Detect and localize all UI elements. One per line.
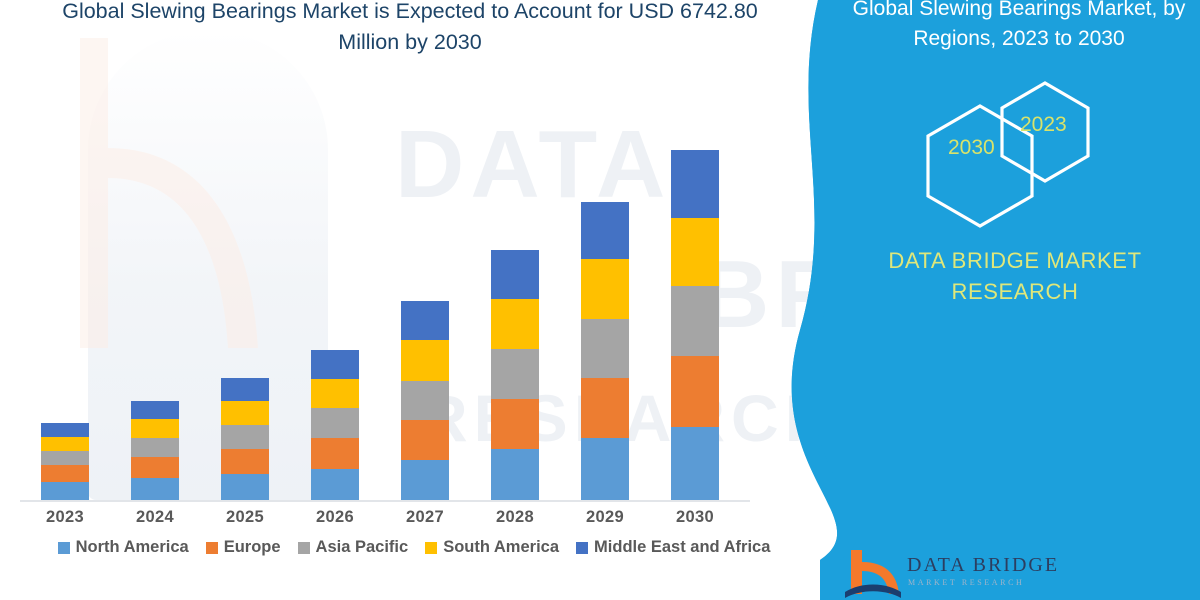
bar-segment[interactable] bbox=[671, 150, 719, 218]
legend-label: Middle East and Africa bbox=[594, 538, 770, 557]
brand-line-2: RESEARCH bbox=[830, 276, 1200, 307]
stacked-bar-2029[interactable] bbox=[581, 202, 629, 500]
bar-segment[interactable] bbox=[401, 460, 449, 500]
legend-swatch-icon bbox=[576, 542, 588, 554]
stacked-bar-2025[interactable] bbox=[221, 378, 269, 500]
stacked-bar-2024[interactable] bbox=[131, 401, 179, 500]
legend-item[interactable]: Middle East and Africa bbox=[576, 538, 770, 557]
bar-segment[interactable] bbox=[311, 438, 359, 469]
bar-segment[interactable] bbox=[401, 301, 449, 340]
stacked-bar-2027[interactable] bbox=[401, 301, 449, 500]
brand-panel: BR Global Slewing Bearings Market, by Re… bbox=[830, 0, 1200, 600]
stacked-bar-2026[interactable] bbox=[311, 350, 359, 500]
bar-segment[interactable] bbox=[131, 478, 179, 500]
bar-segment[interactable] bbox=[671, 356, 719, 427]
bar-segment[interactable] bbox=[491, 449, 539, 500]
bar-segment[interactable] bbox=[671, 218, 719, 286]
bar-segment[interactable] bbox=[401, 420, 449, 460]
hexagon-2023-label: 2023 bbox=[1020, 113, 1067, 137]
bar-segment[interactable] bbox=[581, 202, 629, 259]
bar-slot bbox=[290, 60, 380, 500]
brand-panel-title: Global Slewing Bearings Market, by Regio… bbox=[838, 0, 1200, 54]
bar-segment[interactable] bbox=[311, 408, 359, 438]
bar-segment[interactable] bbox=[41, 482, 89, 500]
legend-item[interactable]: Asia Pacific bbox=[298, 538, 409, 557]
bar-segment[interactable] bbox=[311, 379, 359, 408]
bar-slot bbox=[200, 60, 290, 500]
bar-slot bbox=[110, 60, 200, 500]
bar-segment[interactable] bbox=[671, 427, 719, 500]
legend-item[interactable]: South America bbox=[425, 538, 559, 557]
bar-segment[interactable] bbox=[221, 378, 269, 401]
bar-segment[interactable] bbox=[581, 259, 629, 319]
bar-segment[interactable] bbox=[581, 438, 629, 500]
stacked-bar-2028[interactable] bbox=[491, 250, 539, 500]
chart-panel: DATA BRIDGE RESEARCH Global Slewing Bear… bbox=[0, 0, 830, 600]
x-axis-label-2027: 2027 bbox=[380, 508, 470, 527]
bar-segment[interactable] bbox=[221, 425, 269, 449]
logo-tagline: MARKET RESEARCH bbox=[908, 578, 1024, 587]
bar-segment[interactable] bbox=[221, 474, 269, 500]
bar-segment[interactable] bbox=[311, 469, 359, 500]
legend-item[interactable]: North America bbox=[58, 538, 189, 557]
bar-segment[interactable] bbox=[41, 437, 89, 451]
bar-slot bbox=[650, 60, 740, 500]
bar-segment[interactable] bbox=[41, 451, 89, 465]
bar-segment[interactable] bbox=[131, 401, 179, 419]
bar-segment[interactable] bbox=[401, 381, 449, 420]
bar-group bbox=[20, 60, 760, 500]
legend-label: Asia Pacific bbox=[316, 538, 409, 557]
x-axis-label-2023: 2023 bbox=[20, 508, 110, 527]
bar-segment[interactable] bbox=[491, 250, 539, 299]
logo-wordmark: DATA BRIDGE bbox=[907, 554, 1059, 577]
chart-legend: North AmericaEuropeAsia PacificSouth Ame… bbox=[24, 538, 804, 557]
bar-segment[interactable] bbox=[581, 378, 629, 438]
bar-segment[interactable] bbox=[581, 319, 629, 378]
bar-segment[interactable] bbox=[491, 399, 539, 449]
x-axis-label-2028: 2028 bbox=[470, 508, 560, 527]
stacked-bar-2030[interactable] bbox=[671, 150, 719, 500]
bar-segment[interactable] bbox=[401, 340, 449, 381]
x-axis-label-2024: 2024 bbox=[110, 508, 200, 527]
dbmr-logo-icon bbox=[845, 548, 905, 600]
chart-title: Global Slewing Bearings Market is Expect… bbox=[40, 0, 780, 58]
x-axis-line bbox=[20, 500, 750, 502]
legend-swatch-icon bbox=[298, 542, 310, 554]
hexagon-group: 2030 2023 bbox=[890, 78, 1160, 228]
legend-swatch-icon bbox=[58, 542, 70, 554]
legend-label: South America bbox=[443, 538, 559, 557]
brand-name: DATA BRIDGE MARKET RESEARCH bbox=[830, 245, 1200, 307]
bar-segment[interactable] bbox=[41, 465, 89, 482]
x-axis-label-2030: 2030 bbox=[650, 508, 740, 527]
bar-segment[interactable] bbox=[221, 449, 269, 474]
bar-segment[interactable] bbox=[221, 401, 269, 425]
bar-segment[interactable] bbox=[131, 457, 179, 478]
legend-label: Europe bbox=[224, 538, 281, 557]
bar-segment[interactable] bbox=[131, 438, 179, 457]
legend-swatch-icon bbox=[206, 542, 218, 554]
x-axis-label-2029: 2029 bbox=[560, 508, 650, 527]
bar-slot bbox=[380, 60, 470, 500]
stacked-bar-2023[interactable] bbox=[41, 423, 89, 500]
dbmr-logo: DATA BRIDGE MARKET RESEARCH bbox=[845, 548, 1085, 600]
x-axis-label-2026: 2026 bbox=[290, 508, 380, 527]
bar-segment[interactable] bbox=[311, 350, 359, 379]
x-axis-label-2025: 2025 bbox=[200, 508, 290, 527]
bar-segment[interactable] bbox=[671, 286, 719, 356]
bar-slot bbox=[560, 60, 650, 500]
legend-label: North America bbox=[76, 538, 189, 557]
bar-slot bbox=[20, 60, 110, 500]
brand-line-1: DATA BRIDGE MARKET bbox=[830, 245, 1200, 276]
legend-item[interactable]: Europe bbox=[206, 538, 281, 557]
bar-segment[interactable] bbox=[491, 299, 539, 349]
bar-segment[interactable] bbox=[491, 349, 539, 399]
bar-slot bbox=[470, 60, 560, 500]
hexagon-2030-label: 2030 bbox=[948, 136, 995, 160]
bar-segment[interactable] bbox=[131, 419, 179, 438]
x-axis-labels: 20232024202520262027202820292030 bbox=[20, 508, 760, 527]
infographic-page: DATA BRIDGE RESEARCH Global Slewing Bear… bbox=[0, 0, 1200, 600]
legend-swatch-icon bbox=[425, 542, 437, 554]
bar-segment[interactable] bbox=[41, 423, 89, 437]
